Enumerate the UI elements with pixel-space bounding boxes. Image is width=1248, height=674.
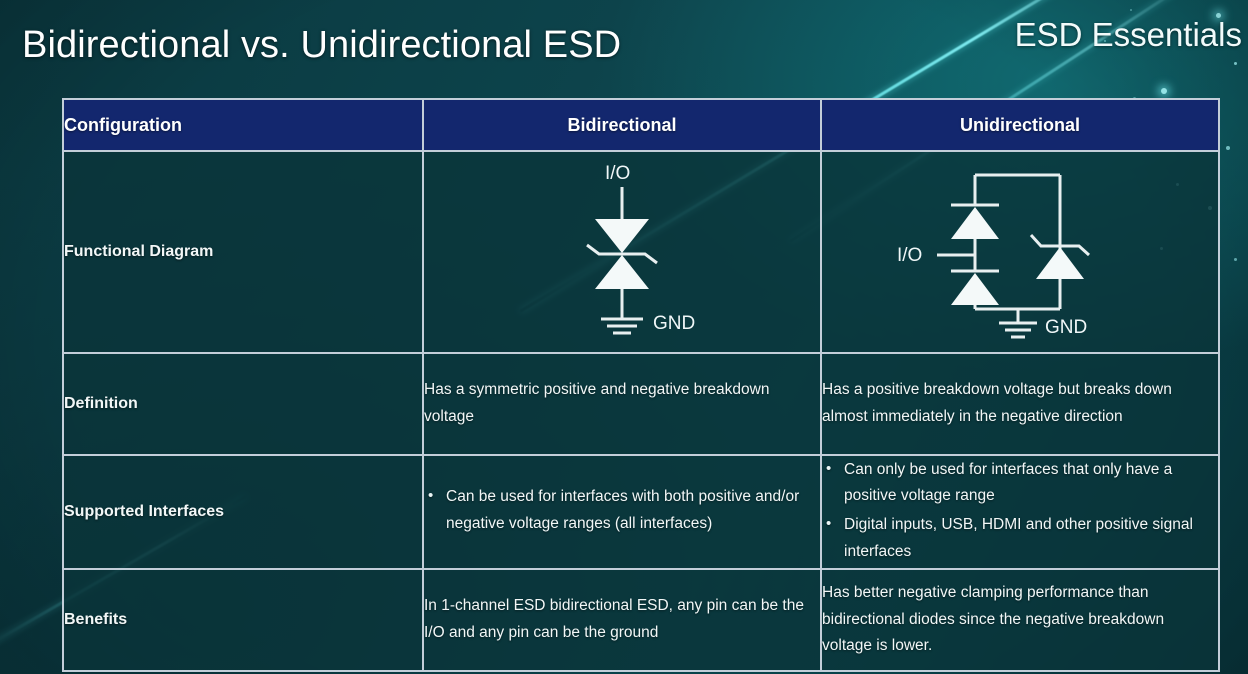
list-item: Digital inputs, USB, HDMI and other posi…: [822, 512, 1218, 565]
page-title: Bidirectional vs. Unidirectional ESD: [22, 24, 621, 67]
row-label-functional-diagram: Functional Diagram: [63, 151, 423, 353]
column-header-configuration: Configuration: [63, 99, 423, 151]
cell-interfaces-bidirectional: Can be used for interfaces with both pos…: [423, 455, 821, 569]
cell-interfaces-unidirectional: Can only be used for interfaces that onl…: [821, 455, 1219, 569]
cell-bidirectional-diagram: I/O GN: [423, 151, 821, 353]
table-header-row: Configuration Bidirectional Unidirection…: [63, 99, 1219, 151]
row-label-benefits: Benefits: [63, 569, 423, 671]
zener-triangle-unidirectional: [1036, 247, 1084, 279]
table-row-benefits: Benefits In 1-channel ESD bidirectional …: [63, 569, 1219, 671]
diode-triangle-upper: [595, 219, 649, 253]
bidirectional-tvs-diagram: I/O GN: [507, 157, 737, 347]
cell-benefits-unidirectional: Has better negative clamping performance…: [821, 569, 1219, 671]
bullet-list-bidirectional: Can be used for interfaces with both pos…: [424, 484, 820, 537]
list-item: Can be used for interfaces with both pos…: [424, 484, 820, 537]
io-label-unidirectional: I/O: [897, 245, 922, 266]
diode-triangle-lower: [595, 255, 649, 289]
bullet-list-unidirectional: Can only be used for interfaces that onl…: [822, 457, 1218, 566]
diode-triangle-upper-steering: [951, 207, 999, 239]
bidirectional-diagram-wrapper: I/O GN: [424, 152, 820, 352]
deck-label: ESD Essentials: [1015, 16, 1242, 54]
table-row-supported-interfaces: Supported Interfaces Can be used for int…: [63, 455, 1219, 569]
row-label-definition: Definition: [63, 353, 423, 455]
column-header-bidirectional: Bidirectional: [423, 99, 821, 151]
cell-unidirectional-diagram: I/O GND: [821, 151, 1219, 353]
list-item: Can only be used for interfaces that onl…: [822, 457, 1218, 510]
diode-triangle-lower-steering: [951, 273, 999, 305]
unidirectional-diagram-wrapper: I/O GND: [822, 152, 1218, 352]
column-header-unidirectional: Unidirectional: [821, 99, 1219, 151]
table-row-definition: Definition Has a symmetric positive and …: [63, 353, 1219, 455]
io-label-bidirectional: I/O: [605, 163, 630, 184]
gnd-label-bidirectional: GND: [653, 313, 695, 334]
row-label-supported-interfaces: Supported Interfaces: [63, 455, 423, 569]
table-row-functional-diagram: Functional Diagram I/O: [63, 151, 1219, 353]
slide-title-bar: Bidirectional vs. Unidirectional ESD ESD…: [0, 0, 1248, 96]
gnd-label-unidirectional: GND: [1045, 317, 1087, 338]
cell-benefits-bidirectional: In 1-channel ESD bidirectional ESD, any …: [423, 569, 821, 671]
unidirectional-tvs-diagram: I/O GND: [875, 157, 1165, 347]
cell-definition-bidirectional: Has a symmetric positive and negative br…: [423, 353, 821, 455]
comparison-table: Configuration Bidirectional Unidirection…: [62, 98, 1220, 672]
cell-definition-unidirectional: Has a positive breakdown voltage but bre…: [821, 353, 1219, 455]
